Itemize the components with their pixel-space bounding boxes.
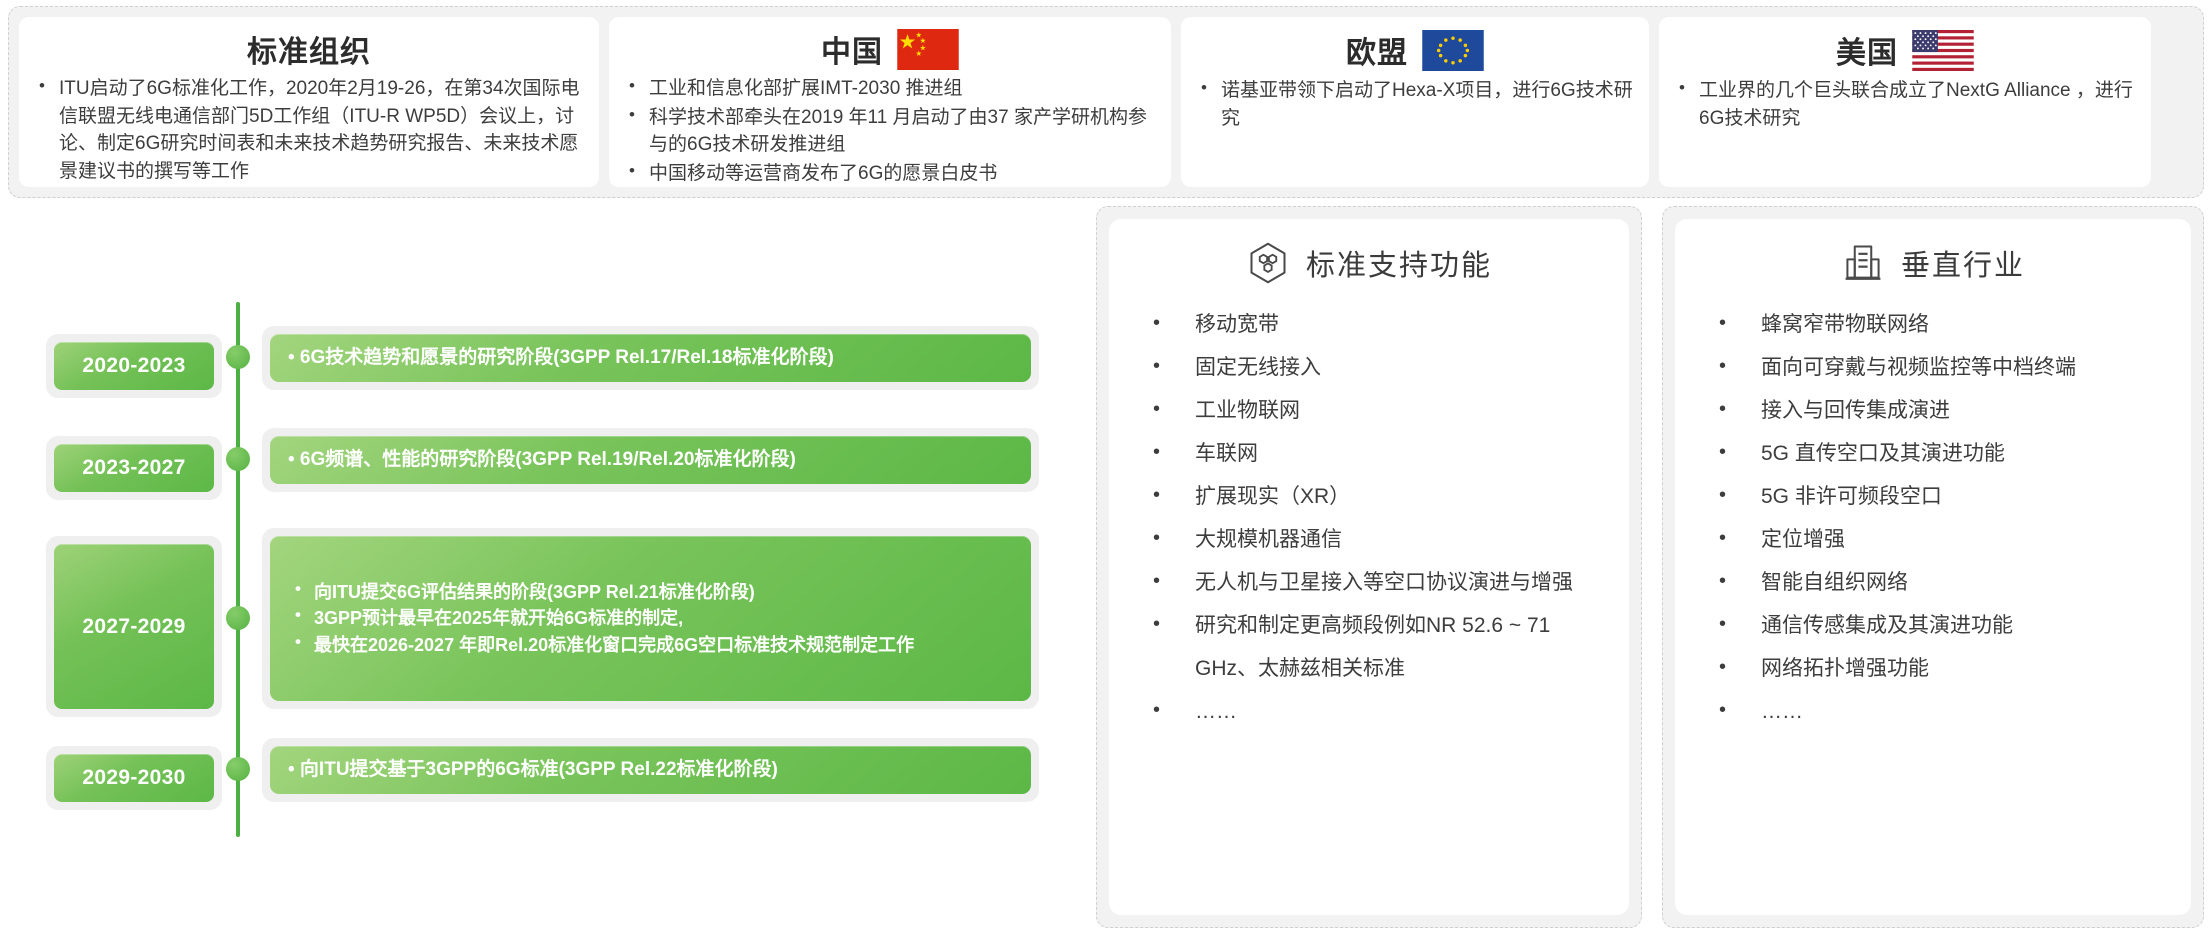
- panel-list: 蜂窝窄带物联网络 面向可穿戴与视频监控等中档终端 接入与回传集成演进 5G 直传…: [1701, 303, 2165, 733]
- list-item: 定位增强: [1705, 518, 2165, 561]
- card-header: 美国: [1673, 27, 2137, 73]
- list-item: 车联网: [1139, 432, 1603, 475]
- timeline-period-chip[interactable]: 2020-2023: [54, 342, 214, 390]
- timeline-text: 最快在2026-2027 年即Rel.20标准化窗口完成6G空口标准技术规范制定…: [288, 632, 1013, 658]
- list-item: 工业界的几个巨头联合成立了NextG Alliance ，进行6G技术研究: [1673, 77, 2137, 132]
- timeline-text: • 向ITU提交基于3GPP的6G标准(3GPP Rel.22标准化阶段): [288, 756, 1013, 785]
- country-card-usa: 美国: [1659, 17, 2151, 187]
- panel-title: 标准支持功能: [1306, 242, 1492, 284]
- list-item: 工业和信息化部扩展IMT-2030 推进组: [623, 75, 1157, 103]
- country-card-china: 中国 工业和信息化部扩展IMT-2030 推进组 科学技术部牵头在2019 年1…: [609, 17, 1171, 187]
- timeline-period-chip[interactable]: 2027-2029: [54, 544, 214, 709]
- country-card-eu: 欧盟: [1181, 17, 1649, 187]
- vertical-industries-region: 垂直行业 蜂窝窄带物联网络 面向可穿戴与视频监控等中档终端 接入与回传集成演进 …: [1662, 206, 2204, 928]
- timeline-row: 2020-2023: [8, 334, 222, 398]
- list-item: 通信传感集成及其演进功能: [1705, 604, 2165, 647]
- card-title: 美国: [1836, 28, 1898, 72]
- timeline-row: 2023-2027: [8, 436, 222, 500]
- list-item: 大规模机器通信: [1139, 518, 1603, 561]
- timeline-period-chip-wrap: 2023-2027: [46, 436, 222, 500]
- list-item: 蜂窝窄带物联网络: [1705, 303, 2165, 346]
- list-item: 智能自组织网络: [1705, 561, 2165, 604]
- eu-flag-icon: [1422, 30, 1484, 71]
- card-title: 欧盟: [1346, 28, 1408, 72]
- timeline-period-chip-wrap: 2029-2030: [46, 746, 222, 810]
- panel-list: 移动宽带 固定无线接入 工业物联网 车联网 扩展现实（XR） 大规模机器通信 无…: [1135, 303, 1603, 733]
- timeline-content[interactable]: • 向ITU提交基于3GPP的6G标准(3GPP Rel.22标准化阶段): [270, 746, 1031, 794]
- panel-header: 标准支持功能: [1135, 241, 1603, 285]
- factory-building-icon: [1841, 241, 1885, 285]
- list-item: 接入与回传集成演进: [1705, 389, 2165, 432]
- list-item: 无人机与卫星接入等空口协议演进与增强: [1139, 561, 1603, 604]
- list-item: 扩展现实（XR）: [1139, 475, 1603, 518]
- bullet-list: 诺基亚带领下启动了Hexa-X项目，进行6G技术研究: [1195, 77, 1635, 132]
- timeline-dot: [226, 757, 250, 781]
- card-body: ITU启动了6G标准化工作，2020年2月19-26，在第34次国际电信联盟无线…: [33, 75, 585, 186]
- china-flag-icon: [897, 29, 959, 70]
- list-item: 诺基亚带领下启动了Hexa-X项目，进行6G技术研究: [1195, 77, 1635, 132]
- timeline-text: 3GPP预计最早在2025年就开始6G标准的制定,: [288, 605, 1013, 631]
- card-header: 欧盟: [1195, 27, 1635, 73]
- list-item: 研究和制定更高频段例如NR 52.6 ~ 71 GHz、太赫兹相关标准: [1139, 604, 1603, 690]
- standards-functions-panel: 标准支持功能 移动宽带 固定无线接入 工业物联网 车联网 扩展现实（XR） 大规…: [1109, 219, 1629, 915]
- list-item: 科学技术部牵头在2019 年11 月启动了由37 家产学研机构参与的6G技术研发…: [623, 104, 1157, 159]
- card-header: 标准组织: [33, 27, 585, 71]
- timeline-dot: [226, 606, 250, 630]
- timeline-text: 向ITU提交6G评估结果的阶段(3GPP Rel.21标准化阶段): [288, 579, 1013, 605]
- timeline-period-chip-wrap: 2020-2023: [46, 334, 222, 398]
- list-item: 工业物联网: [1139, 389, 1603, 432]
- timeline: 2020-2023 • 6G技术趋势和愿景的研究阶段(3GPP Rel.17/R…: [8, 206, 1068, 928]
- honeycomb-hexagon-icon: [1246, 241, 1290, 285]
- list-item: 网络拓扑增强功能: [1705, 647, 2165, 690]
- timeline-region: 2020-2023 • 6G技术趋势和愿景的研究阶段(3GPP Rel.17/R…: [8, 206, 1068, 928]
- card-header: 中国: [623, 27, 1157, 71]
- timeline-row: 2029-2030: [8, 746, 222, 810]
- timeline-period-chip-wrap: 2027-2029: [46, 536, 222, 717]
- list-item: ……: [1139, 690, 1603, 733]
- list-item: 5G 非许可频段空口: [1705, 475, 2165, 518]
- panel-header: 垂直行业: [1701, 241, 2165, 285]
- usa-flag-icon: [1912, 30, 1974, 71]
- timeline-text: • 6G频谱、性能的研究阶段(3GPP Rel.19/Rel.20标准化阶段): [288, 446, 1013, 475]
- timeline-content-wrap: • 向ITU提交基于3GPP的6G标准(3GPP Rel.22标准化阶段): [262, 738, 1039, 802]
- bullet-list: 工业和信息化部扩展IMT-2030 推进组 科学技术部牵头在2019 年11 月…: [623, 75, 1157, 187]
- list-item: 5G 直传空口及其演进功能: [1705, 432, 2165, 475]
- timeline-content[interactable]: • 6G频谱、性能的研究阶段(3GPP Rel.19/Rel.20标准化阶段): [270, 436, 1031, 484]
- list-item: 面向可穿戴与视频监控等中档终端: [1705, 346, 2165, 389]
- timeline-content[interactable]: • 6G技术趋势和愿景的研究阶段(3GPP Rel.17/Rel.18标准化阶段…: [270, 334, 1031, 382]
- card-body: 工业和信息化部扩展IMT-2030 推进组 科学技术部牵头在2019 年11 月…: [623, 75, 1157, 188]
- timeline-row: 2027-2029: [8, 536, 222, 717]
- timeline-period-chip[interactable]: 2029-2030: [54, 754, 214, 802]
- list-item: 固定无线接入: [1139, 346, 1603, 389]
- list-item: 中国移动等运营商发布了6G的愿景白皮书: [623, 160, 1157, 188]
- timeline-dot: [226, 447, 250, 471]
- list-item: 移动宽带: [1139, 303, 1603, 346]
- list-item: ITU启动了6G标准化工作，2020年2月19-26，在第34次国际电信联盟无线…: [33, 75, 585, 185]
- timeline-content-wrap: 向ITU提交6G评估结果的阶段(3GPP Rel.21标准化阶段) 3GPP预计…: [262, 528, 1039, 709]
- country-cards-row: 标准组织 ITU启动了6G标准化工作，2020年2月19-26，在第34次国际电…: [8, 6, 2204, 198]
- card-body: 工业界的几个巨头联合成立了NextG Alliance ，进行6G技术研究: [1673, 77, 2137, 175]
- card-body: 诺基亚带领下启动了Hexa-X项目，进行6G技术研究: [1195, 77, 1635, 175]
- standards-functions-region: 标准支持功能 移动宽带 固定无线接入 工业物联网 车联网 扩展现实（XR） 大规…: [1096, 206, 1642, 928]
- timeline-period-chip[interactable]: 2023-2027: [54, 444, 214, 492]
- list-item: ……: [1705, 690, 2165, 733]
- bullet-list: ITU启动了6G标准化工作，2020年2月19-26，在第34次国际电信联盟无线…: [33, 75, 585, 185]
- timeline-content[interactable]: 向ITU提交6G评估结果的阶段(3GPP Rel.21标准化阶段) 3GPP预计…: [270, 536, 1031, 701]
- timeline-text: • 6G技术趋势和愿景的研究阶段(3GPP Rel.17/Rel.18标准化阶段…: [288, 344, 1013, 373]
- timeline-content-wrap: • 6G频谱、性能的研究阶段(3GPP Rel.19/Rel.20标准化阶段): [262, 428, 1039, 492]
- timeline-content-wrap: • 6G技术趋势和愿景的研究阶段(3GPP Rel.17/Rel.18标准化阶段…: [262, 326, 1039, 390]
- country-card-standards-org: 标准组织 ITU启动了6G标准化工作，2020年2月19-26，在第34次国际电…: [19, 17, 599, 187]
- bullet-list: 工业界的几个巨头联合成立了NextG Alliance ，进行6G技术研究: [1673, 77, 2137, 132]
- timeline-bullet-list: 向ITU提交6G评估结果的阶段(3GPP Rel.21标准化阶段) 3GPP预计…: [288, 579, 1013, 657]
- card-title: 标准组织: [247, 27, 371, 71]
- panel-title: 垂直行业: [1901, 242, 2025, 284]
- timeline-dot: [226, 345, 250, 369]
- card-title: 中国: [821, 27, 883, 71]
- vertical-industries-panel: 垂直行业 蜂窝窄带物联网络 面向可穿戴与视频监控等中档终端 接入与回传集成演进 …: [1675, 219, 2191, 915]
